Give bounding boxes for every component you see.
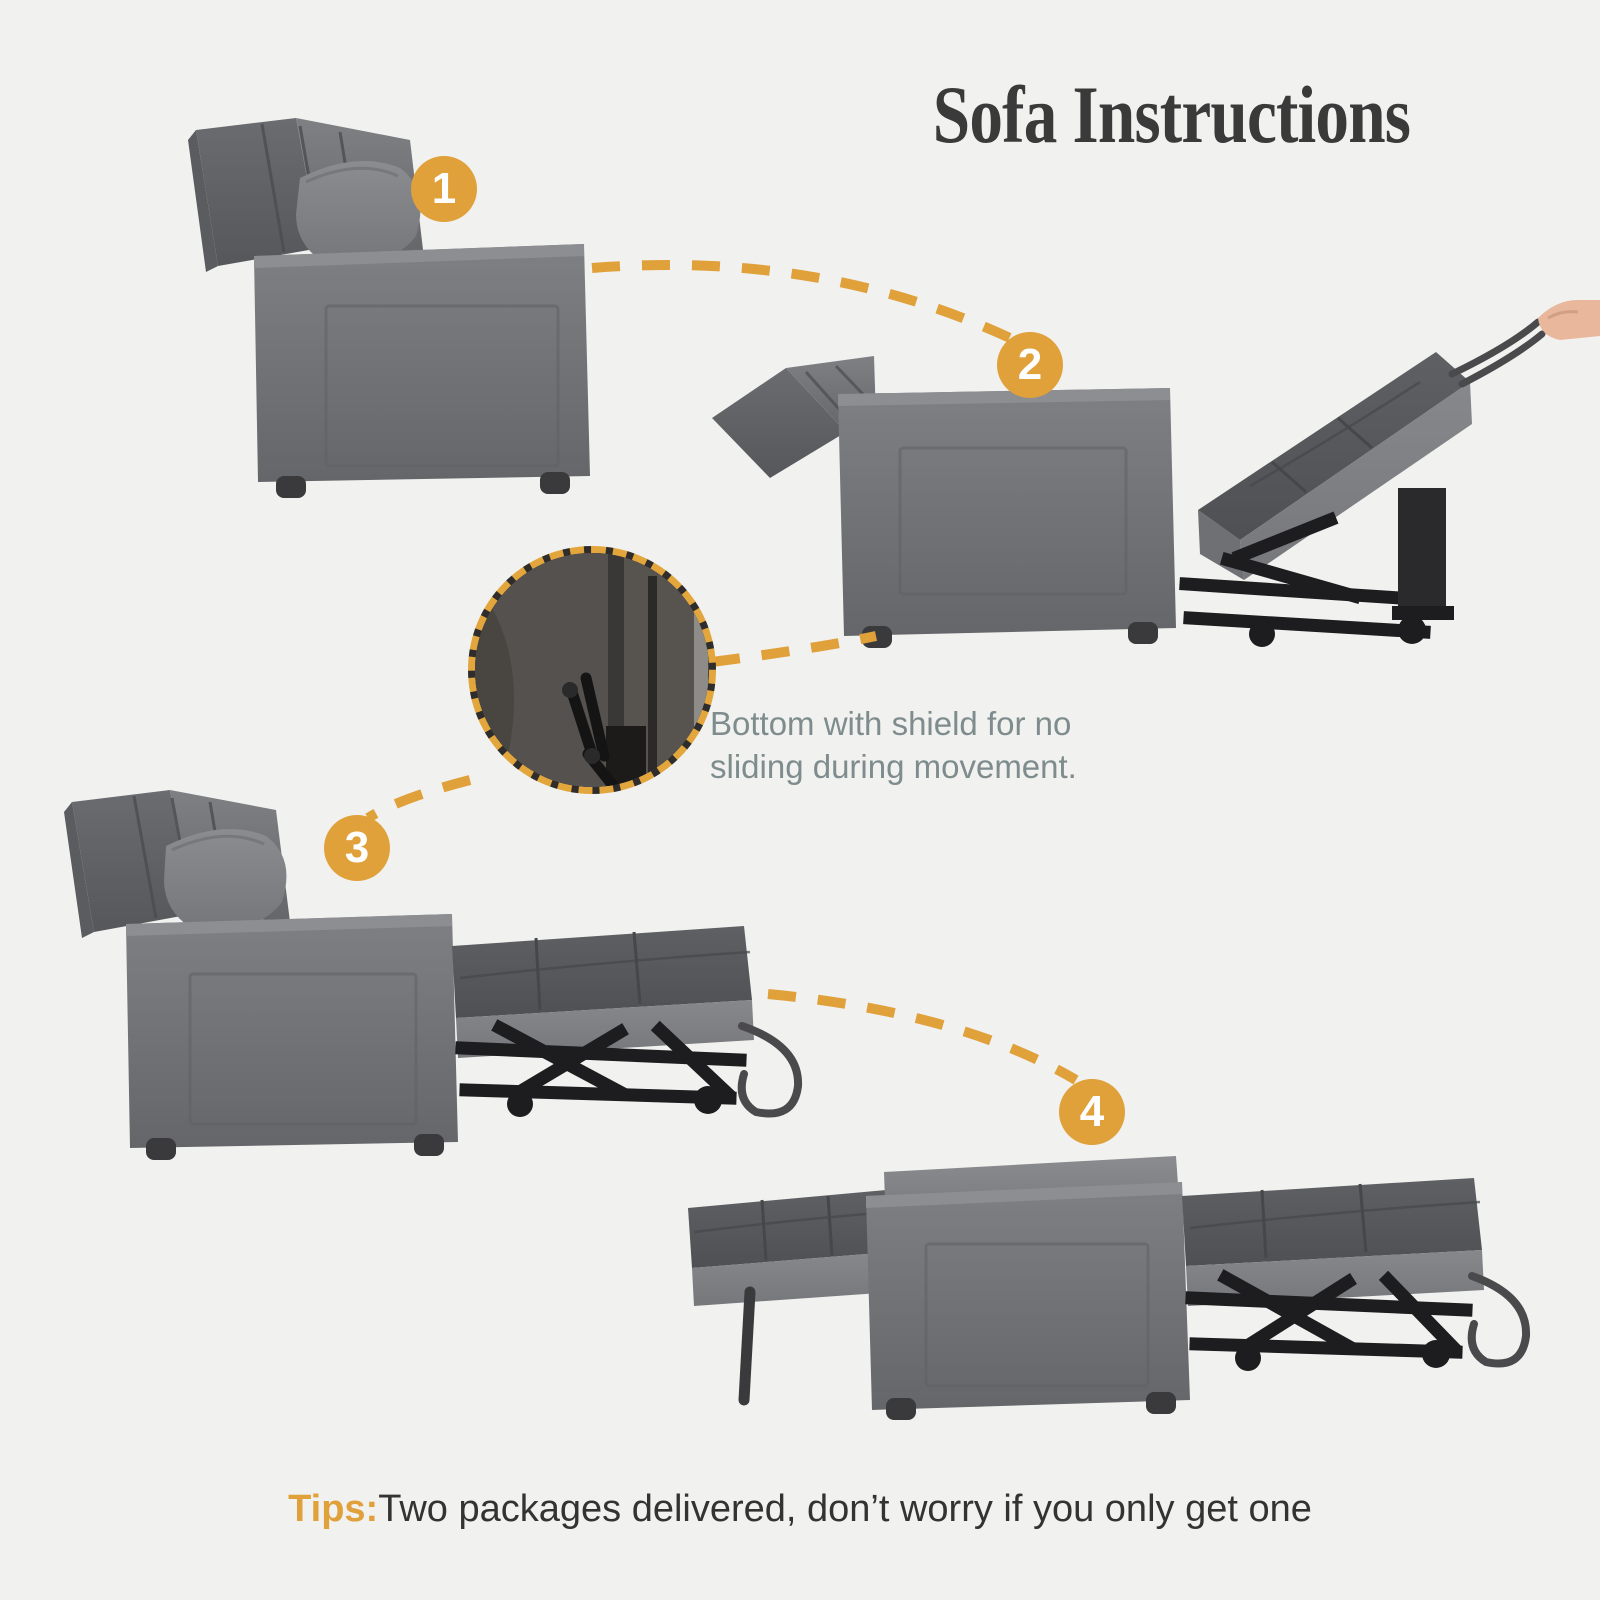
step-badge-3[interactable]: 3 bbox=[324, 815, 390, 881]
arrow-step1-to-step2 bbox=[592, 265, 1010, 338]
tips-text: Two packages delivered, don’t worry if y… bbox=[378, 1488, 1312, 1530]
step-badge-4[interactable]: 4 bbox=[1059, 1079, 1125, 1145]
detail-caption-line-2: sliding during movement. bbox=[710, 745, 1130, 788]
arrow-step3-to-step4 bbox=[768, 994, 1076, 1080]
step-badge-2[interactable]: 2 bbox=[997, 332, 1063, 398]
detail-caption: Bottom with shield for no sliding during… bbox=[710, 702, 1130, 788]
arrow-step2-to-detail bbox=[712, 636, 876, 662]
tips-line: Tips:Two packages delivered, don’t worry… bbox=[0, 1488, 1600, 1531]
step-badge-1[interactable]: 1 bbox=[411, 156, 477, 222]
detail-caption-line-1: Bottom with shield for no bbox=[710, 702, 1130, 745]
sofa-instructions-poster: Sofa Instructions bbox=[0, 0, 1600, 1600]
connector-arrows bbox=[0, 0, 1600, 1600]
arrow-detail-to-step3 bbox=[368, 780, 470, 818]
tips-label: Tips: bbox=[288, 1488, 378, 1530]
detail-circle-bottom-shield bbox=[468, 546, 716, 794]
